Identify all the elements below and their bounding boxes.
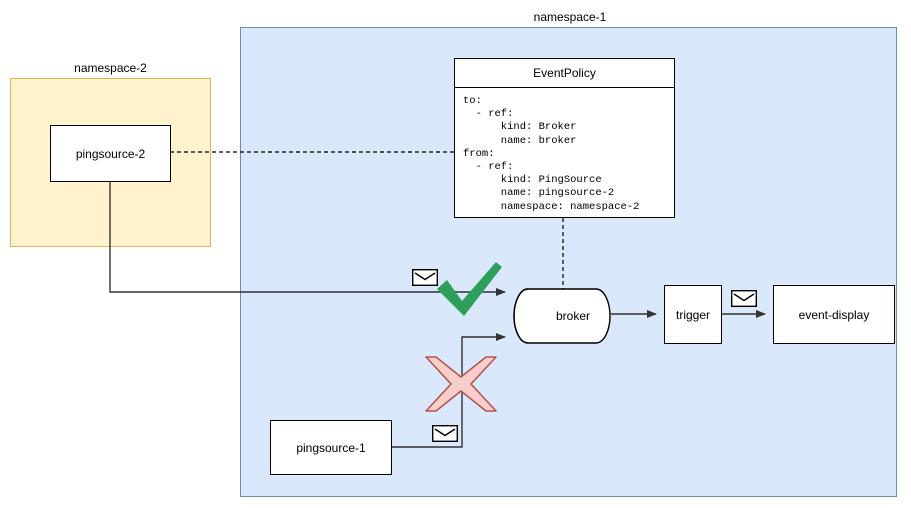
eventpolicy-yaml: to: - ref: kind: Broker name: broker fro… <box>463 95 674 214</box>
node-event-display-label: event-display <box>799 308 870 322</box>
node-trigger[interactable]: trigger <box>664 285 722 344</box>
envelope-icon <box>731 290 757 307</box>
node-pingsource-2[interactable]: pingsource-2 <box>50 125 171 182</box>
green-check-mark-icon <box>434 260 504 320</box>
node-broker-label: broker <box>513 288 611 344</box>
envelope-icon <box>432 425 458 442</box>
node-pingsource-1[interactable]: pingsource-1 <box>270 420 392 475</box>
diagram-canvas: namespace-1 namespace-2 pingsource-2 pin… <box>0 0 911 508</box>
eventpolicy-title: EventPolicy <box>454 58 675 88</box>
node-pingsource-2-label: pingsource-2 <box>76 147 145 161</box>
red-cross-mark-icon <box>424 355 498 413</box>
eventpolicy-body: to: - ref: kind: Broker name: broker fro… <box>454 88 675 218</box>
node-pingsource-1-label: pingsource-1 <box>296 441 365 455</box>
eventpolicy-card[interactable]: EventPolicy to: - ref: kind: Broker name… <box>454 58 675 218</box>
node-trigger-label: trigger <box>676 308 710 322</box>
node-event-display[interactable]: event-display <box>773 285 895 344</box>
